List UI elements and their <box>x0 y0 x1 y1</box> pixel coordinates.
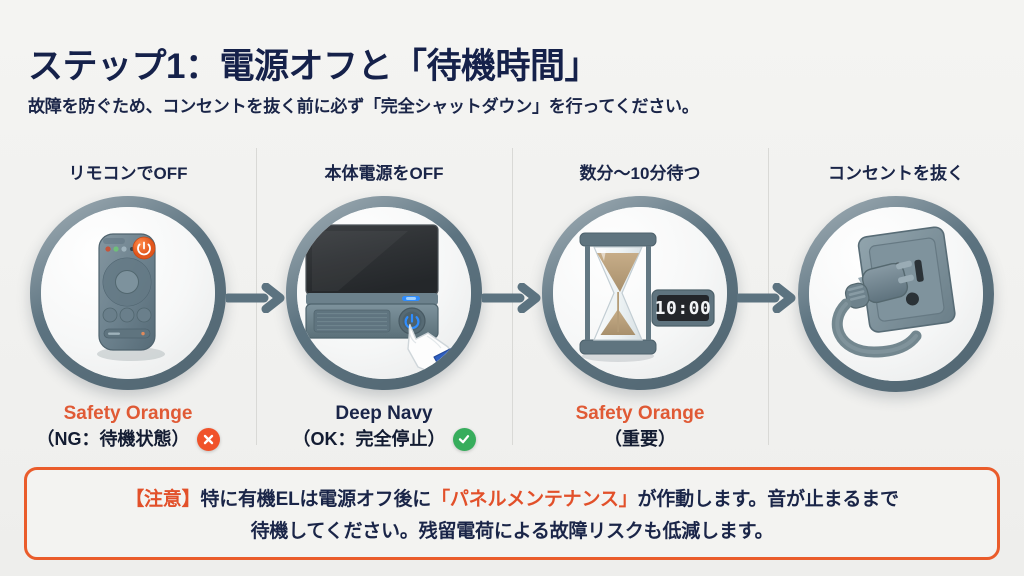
step-column-4: コンセントを抜く <box>768 146 1024 451</box>
step-caption-2: Deep Navy （OK：完全停止） <box>293 402 476 451</box>
hourglass-timer-icon: 10:00 <box>553 207 727 379</box>
caption-sub-text-2: （OK：完全停止） <box>293 428 446 451</box>
step-label-2: 本体電源をOFF <box>325 159 444 184</box>
arrow-right-icon-1 <box>226 283 288 313</box>
caption-sub-1: （NG：待機状態） <box>37 428 220 451</box>
step-column-1: リモコンでOFF <box>0 146 256 451</box>
step-column-3: 数分〜10分待つ <box>512 146 768 451</box>
slide-root: ステップ1：電源オフと「待機時間」 故障を防ぐため、コンセントを抜く前に必ず「完… <box>0 0 1024 576</box>
arrow-right-icon-3 <box>737 283 799 313</box>
check-badge-icon <box>453 428 476 451</box>
caption-sub-3: （重要） <box>576 428 705 451</box>
caption-main-3: Safety Orange <box>576 402 705 426</box>
remote-control-icon <box>41 207 215 379</box>
notice-prefix: 【注意】 <box>125 489 200 510</box>
step-illustration-1 <box>30 196 226 390</box>
notice-highlight: 「パネルメンテナンス」 <box>431 489 637 510</box>
step-illustration-2 <box>286 196 482 390</box>
x-badge-icon <box>197 428 220 451</box>
notice-line1-mid: 特に有機ELは電源オフ後に <box>200 489 431 510</box>
step-illustration-4 <box>798 196 994 392</box>
step-label-4: コンセントを抜く <box>828 159 964 184</box>
step-label-3: 数分〜10分待つ <box>580 159 701 184</box>
page-title: ステップ1：電源オフと「待機時間」 <box>28 38 599 89</box>
caption-main-2: Deep Navy <box>293 402 476 426</box>
power-plug-outlet-icon <box>809 207 983 381</box>
tv-power-button-icon <box>297 207 471 379</box>
step-illustration-3: 10:00 <box>542 196 738 390</box>
step-label-1: リモコンでOFF <box>69 159 188 184</box>
notice-line-1: 【注意】特に有機ELは電源オフ後に「パネルメンテナンス」が作動します。音が止まる… <box>125 484 899 511</box>
notice-line-2: 待機してください。残留電荷による故障リスクも低減します。 <box>251 516 774 543</box>
caption-main-1: Safety Orange <box>37 402 220 426</box>
notice-box: 【注意】特に有機ELは電源オフ後に「パネルメンテナンス」が作動します。音が止まる… <box>24 467 1000 560</box>
step-caption-1: Safety Orange （NG：待機状態） <box>37 402 220 451</box>
page-subtitle: 故障を防ぐため、コンセントを抜く前に必ず「完全シャットダウン」を行ってください。 <box>28 92 699 117</box>
notice-line1-post: が作動します。音が止まるまで <box>638 489 899 510</box>
step-column-2: 本体電源をOFF <box>256 146 512 451</box>
arrow-right-icon-2 <box>482 283 544 313</box>
timer-display: 10:00 <box>655 298 712 319</box>
caption-sub-text-1: （NG：待機状態） <box>37 428 190 451</box>
step-caption-3: Safety Orange （重要） <box>576 402 705 451</box>
caption-sub-text-3: （重要） <box>604 428 676 451</box>
steps-row: リモコンでOFF <box>0 146 1024 451</box>
caption-sub-2: （OK：完全停止） <box>293 428 476 451</box>
